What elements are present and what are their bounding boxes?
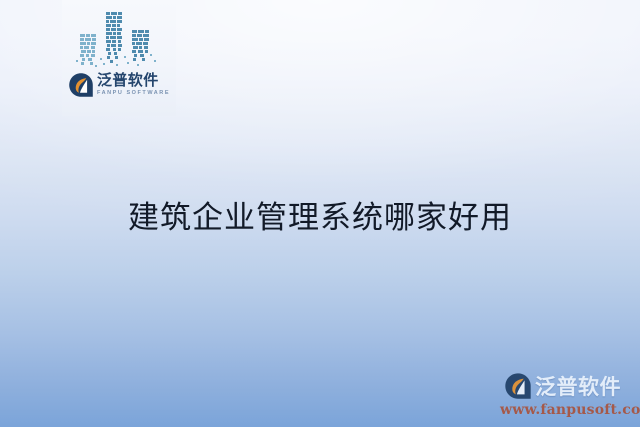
page-canvas: 泛普软件 FANPU SOFTWARE 建筑企业管理系统哪家好用 泛普软件 ww… — [0, 0, 640, 427]
brand-watermark-block: 泛普软件 FANPU SOFTWARE — [62, 0, 176, 116]
watermark-url: www.fanpusoft.com — [500, 402, 636, 418]
brand-logo: 泛普软件 FANPU SOFTWARE — [68, 68, 172, 102]
brand-name-en: FANPU SOFTWARE — [97, 91, 170, 97]
site-watermark: 泛普软件 www.fanpusoft.com — [500, 371, 636, 421]
brand-wordmark: 泛普软件 FANPU SOFTWARE — [97, 73, 170, 97]
page-title: 建筑企业管理系统哪家好用 — [0, 198, 640, 240]
brand-name-cn: 泛普软件 — [97, 73, 170, 88]
pixel-city-skyline-icon — [70, 8, 168, 68]
watermark-logo-row: 泛普软件 — [500, 371, 636, 401]
fanpu-circle-swoosh-logo-icon — [68, 72, 94, 98]
fanpu-circle-swoosh-logo-icon — [504, 372, 532, 400]
watermark-name-cn: 泛普软件 — [535, 371, 621, 401]
